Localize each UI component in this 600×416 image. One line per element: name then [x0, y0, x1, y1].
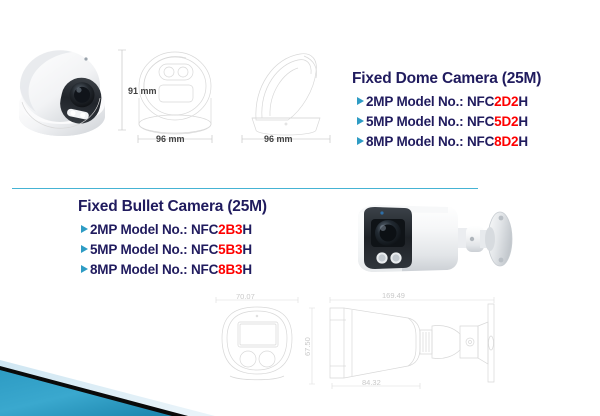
triangle-bullet-icon [354, 97, 366, 105]
bullet-model-8mp: 8MP Model No.: NFC8B3H [90, 262, 252, 277]
dome-model-5mp: 5MP Model No.: NFC5D2H [366, 114, 528, 129]
bullet-model-2mp: 2MP Model No.: NFC2B3H [90, 222, 252, 237]
bullet-front-height-label: 67.50 [303, 337, 312, 356]
list-item: 5MP Model No.: NFC5D2H [352, 111, 541, 131]
slide-canvas: 91 mm 96 mm 96 mm Fixed Dome Camera (25M… [0, 0, 600, 416]
bullet-model-list: 2MP Model No.: NFC2B3H 5MP Model No.: NF… [78, 219, 267, 279]
list-item: 8MP Model No.: NFC8B3H [78, 259, 267, 279]
dome-spec-block: Fixed Dome Camera (25M) 2MP Model No.: N… [352, 70, 541, 151]
list-item: 2MP Model No.: NFC2B3H [78, 219, 267, 239]
bullet-camera-photo [342, 196, 520, 288]
bullet-front-width-label: 70.07 [236, 292, 255, 301]
triangle-bullet-icon [78, 225, 90, 233]
bullet-side-base-label: 84.32 [362, 378, 381, 387]
bullet-section-title: Fixed Bullet Camera (25M) [78, 198, 267, 216]
triangle-bullet-icon [78, 245, 90, 253]
dome-front-height-label: 91 mm [128, 86, 157, 96]
dome-drawing-side: 96 mm [226, 38, 342, 148]
dome-front-width-label: 96 mm [156, 134, 185, 144]
bullet-spec-block: Fixed Bullet Camera (25M) 2MP Model No.:… [78, 198, 267, 279]
dome-side-width-label: 96 mm [264, 134, 293, 144]
bullet-drawing-front: 70.07 67.50 [202, 290, 324, 390]
section-divider [12, 188, 478, 189]
bullet-side-length-label: 169.49 [382, 291, 405, 300]
triangle-bullet-icon [354, 137, 366, 145]
list-item: 5MP Model No.: NFC5B3H [78, 239, 267, 259]
list-item: 8MP Model No.: NFC8D2H [352, 131, 541, 151]
bullet-model-5mp: 5MP Model No.: NFC5B3H [90, 242, 252, 257]
corner-decoration [0, 354, 215, 416]
triangle-bullet-icon [78, 265, 90, 273]
bullet-drawing-side: 169.49 84.32 [322, 286, 504, 398]
dome-section-title: Fixed Dome Camera (25M) [352, 70, 541, 88]
triangle-bullet-icon [354, 117, 366, 125]
list-item: 2MP Model No.: NFC2D2H [352, 91, 541, 111]
dome-model-8mp: 8MP Model No.: NFC8D2H [366, 134, 528, 149]
dome-model-list: 2MP Model No.: NFC2D2H 5MP Model No.: NF… [352, 91, 541, 151]
dome-model-2mp: 2MP Model No.: NFC2D2H [366, 94, 528, 109]
dome-drawing-front: 91 mm 96 mm [112, 38, 220, 148]
dome-camera-photo [10, 34, 114, 140]
